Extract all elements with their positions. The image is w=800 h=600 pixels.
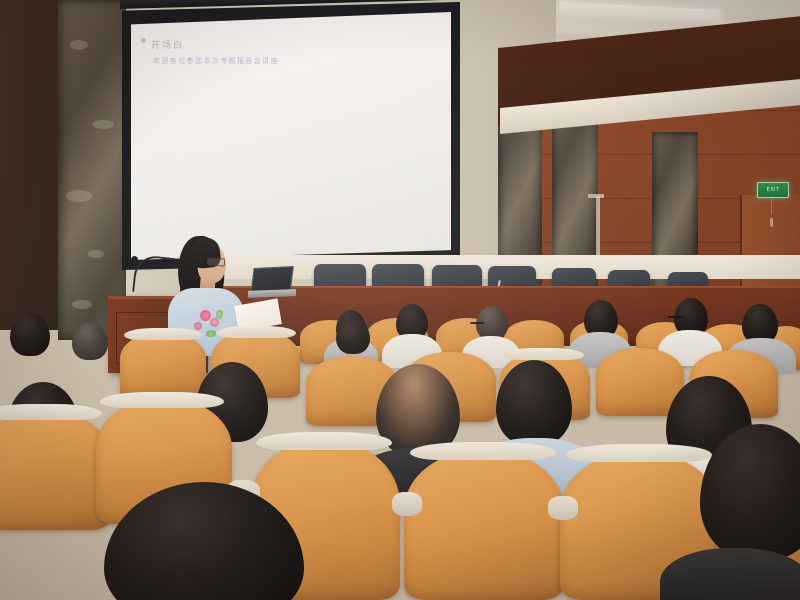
slide-subtitle: 欢迎各位参加本次专题报告会讲座 [153, 56, 279, 66]
seat-trim [100, 392, 224, 408]
audience-head [72, 322, 108, 360]
projection-screen[interactable]: 开场白 欢迎各位参加本次专题报告会讲座 [131, 12, 451, 260]
audience-head [10, 312, 50, 356]
seat-trim [410, 442, 556, 460]
seat-trim [256, 432, 392, 450]
stone-pilaster-left [58, 0, 130, 340]
microphone-head-icon [131, 256, 138, 263]
seat[interactable] [0, 410, 110, 530]
glasses-icon [668, 316, 684, 318]
seat-trim [216, 326, 296, 338]
door-handle-icon[interactable] [770, 218, 773, 227]
exit-sign: EXIT [757, 182, 789, 198]
seat-trim [124, 328, 202, 340]
glasses-icon [470, 322, 484, 324]
auditorium-photo: EXIT 开场白 欢迎各位参加本次专题报告会讲座 [0, 0, 800, 600]
exit-sign-cable [771, 196, 772, 214]
seat-trim [0, 404, 102, 420]
door-frame-top [588, 194, 604, 198]
seat-trim [566, 444, 712, 462]
seat[interactable] [120, 332, 206, 398]
exit-sign-label: EXIT [767, 188, 780, 193]
glasses-icon [207, 257, 226, 266]
seat[interactable] [404, 450, 564, 600]
audience-head [336, 318, 370, 354]
seat-armrest [548, 496, 578, 520]
seat-trim [502, 348, 584, 360]
seat-armrest [392, 492, 422, 516]
slide-title: 开场白 [151, 38, 184, 51]
slide-bullet-icon [141, 38, 146, 43]
